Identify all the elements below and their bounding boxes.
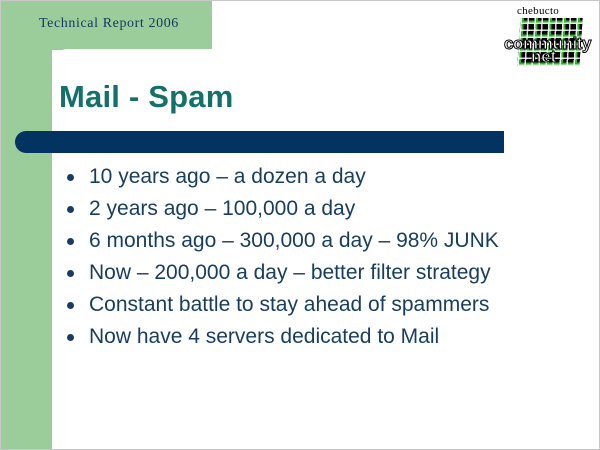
list-item-label: Constant battle to stay ahead of spammer… (89, 293, 489, 316)
list-item: Now – 200,000 a day – better filter stra… (63, 257, 563, 289)
chebucto-community-net-logo: chebucto community net (503, 5, 595, 67)
green-sidebar-decoration (1, 1, 52, 450)
list-item-label: Now – 200,000 a day – better filter stra… (89, 261, 491, 284)
list-item: Constant battle to stay ahead of spammer… (63, 289, 563, 321)
logo-net-text: net (531, 48, 556, 65)
bullet-dot-icon (67, 174, 74, 181)
bullet-dot-icon (67, 334, 74, 341)
list-item: 2 years ago – 100,000 a day (63, 193, 563, 225)
bullet-dot-icon (67, 302, 74, 309)
list-item-label: 10 years ago – a dozen a day (89, 165, 366, 188)
bullet-dot-icon (67, 270, 74, 277)
logo-chebucto-text: chebucto (517, 5, 559, 17)
presentation-slide: Technical Report 2006 chebucto community… (0, 0, 600, 450)
list-item-label: Now have 4 servers dedicated to Mail (89, 325, 439, 348)
bullet-list: 10 years ago – a dozen a day 2 years ago… (63, 161, 563, 353)
bullet-dot-icon (67, 238, 74, 245)
list-item: 10 years ago – a dozen a day (63, 161, 563, 193)
report-header-label: Technical Report 2006 (39, 16, 179, 32)
title-underline-bar (15, 131, 504, 153)
list-item-label: 2 years ago – 100,000 a day (89, 197, 355, 220)
list-item-label: 6 months ago – 300,000 a day – 98% JUNK (89, 229, 499, 252)
slide-title: Mail - Spam (59, 79, 233, 115)
list-item: Now have 4 servers dedicated to Mail (63, 321, 563, 353)
bullet-dot-icon (67, 206, 74, 213)
list-item: 6 months ago – 300,000 a day – 98% JUNK (63, 225, 563, 257)
